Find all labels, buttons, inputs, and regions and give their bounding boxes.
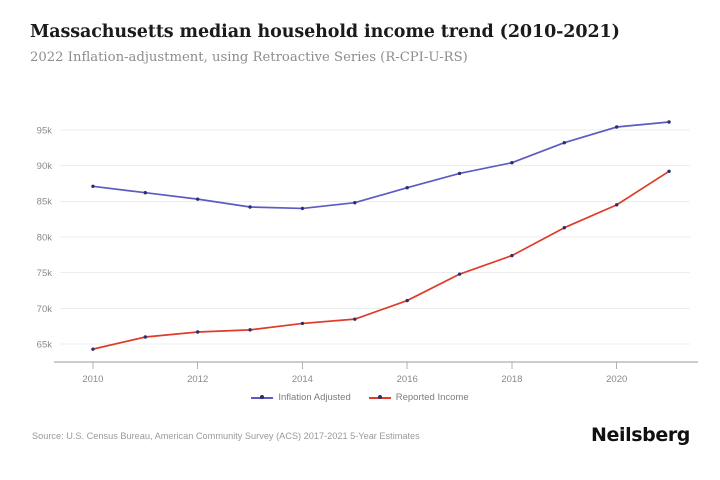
data-point[interactable] <box>405 186 408 189</box>
legend-item-reported-income[interactable]: Reported Income <box>369 392 469 403</box>
legend-item-inflation-adjusted[interactable]: Inflation Adjusted <box>251 392 350 403</box>
x-axis-tick-label: 2010 <box>82 374 103 385</box>
data-series <box>91 120 671 351</box>
data-point[interactable] <box>667 120 670 123</box>
data-point[interactable] <box>458 172 461 175</box>
data-point[interactable] <box>510 161 513 164</box>
data-point[interactable] <box>667 170 670 173</box>
x-axis-tick-label: 2012 <box>187 374 208 385</box>
legend-marker-icon <box>378 395 382 399</box>
chart-footer: Source: U.S. Census Bureau, American Com… <box>0 424 720 464</box>
legend-swatch-icon <box>369 393 391 402</box>
data-point[interactable] <box>458 272 461 275</box>
x-axis-tick-label: 2014 <box>292 374 313 385</box>
data-point[interactable] <box>144 191 147 194</box>
legend-label: Reported Income <box>396 392 469 403</box>
data-point[interactable] <box>615 203 618 206</box>
data-point[interactable] <box>353 201 356 204</box>
x-axis <box>54 362 698 369</box>
data-point[interactable] <box>301 322 304 325</box>
y-axis-tick-label: 85k <box>37 197 53 208</box>
x-axis-tick-labels: 201020122014201620182020 <box>82 374 627 385</box>
y-axis-tick-label: 75k <box>37 268 53 279</box>
y-axis-tick-labels: 65k70k75k80k85k90k95k <box>37 125 53 350</box>
data-point[interactable] <box>196 330 199 333</box>
y-axis-tick-label: 95k <box>37 125 53 136</box>
data-point[interactable] <box>248 328 251 331</box>
y-axis-tick-label: 70k <box>37 304 53 315</box>
y-axis-tick-label: 80k <box>37 232 53 243</box>
data-point[interactable] <box>196 197 199 200</box>
data-point[interactable] <box>91 185 94 188</box>
data-point[interactable] <box>248 205 251 208</box>
chart-legend: Inflation Adjusted Reported Income <box>0 392 720 403</box>
brand-logo: Neilsberg <box>591 424 690 446</box>
y-axis-tick-label: 90k <box>37 161 53 172</box>
plot-area: 65k70k75k80k85k90k95k 201020122014201620… <box>0 0 720 480</box>
data-point[interactable] <box>563 226 566 229</box>
data-point[interactable] <box>615 125 618 128</box>
data-point[interactable] <box>353 317 356 320</box>
line-chart-svg: 65k70k75k80k85k90k95k 201020122014201620… <box>0 0 720 480</box>
data-point[interactable] <box>144 335 147 338</box>
data-point[interactable] <box>510 254 513 257</box>
data-point[interactable] <box>405 299 408 302</box>
x-axis-tick-label: 2016 <box>397 374 418 385</box>
data-point[interactable] <box>91 347 94 350</box>
series-line-reported-income <box>93 171 669 349</box>
legend-swatch-icon <box>251 393 273 402</box>
x-axis-tick-label: 2018 <box>501 374 522 385</box>
legend-label: Inflation Adjusted <box>278 392 350 403</box>
source-note: Source: U.S. Census Bureau, American Com… <box>32 431 420 441</box>
data-point[interactable] <box>563 141 566 144</box>
data-point[interactable] <box>301 207 304 210</box>
x-axis-tick-label: 2020 <box>606 374 627 385</box>
chart-page: Massachusetts median household income tr… <box>0 0 720 480</box>
y-axis-tick-label: 65k <box>37 340 53 351</box>
